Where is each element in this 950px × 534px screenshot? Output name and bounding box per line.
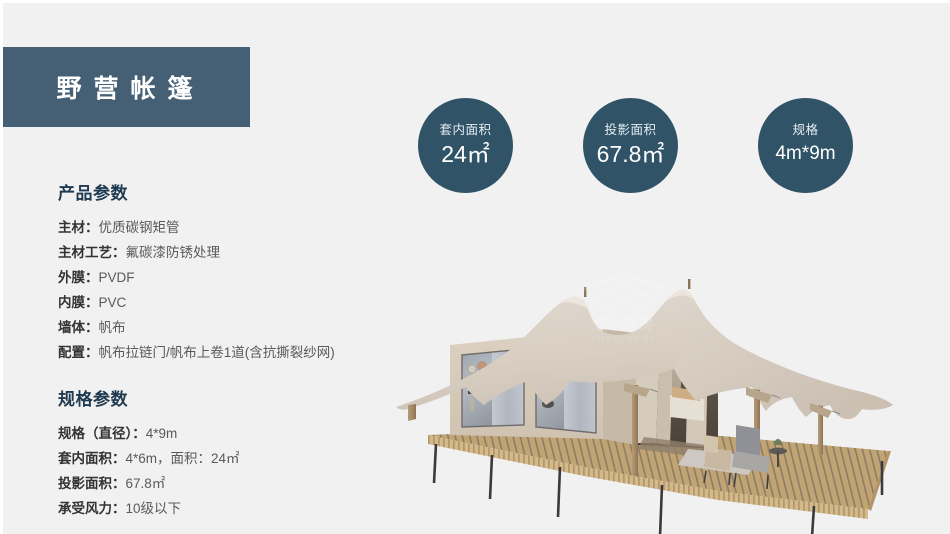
- product-parameters-block: 产品参数 主材：优质碳钢矩管 主材工艺：氟碳漆防锈处理 外膜：PVDF 内膜：P…: [58, 179, 335, 365]
- spec-label: 投影面积：: [58, 476, 126, 491]
- spec-label: 内膜：: [58, 295, 99, 310]
- spec-value: PVC: [99, 295, 127, 310]
- spec-label: 套内面积：: [58, 451, 126, 466]
- badge-value: 24㎡: [441, 140, 490, 168]
- spec-label: 外膜：: [58, 270, 99, 285]
- spec-value: 4*6m，面积：24㎡: [126, 451, 240, 466]
- size-parameters-heading: 规格参数: [58, 385, 240, 410]
- badge-label: 套内面积: [439, 123, 491, 138]
- spec-label: 承受风力：: [58, 501, 126, 516]
- spec-row: 投影面积：67.8㎡: [58, 471, 240, 496]
- tent-render-image: 雪利篷房 XUELI TENT: [388, 199, 950, 534]
- spec-row: 内膜：PVC: [58, 290, 335, 315]
- product-spec-page: 野营帐篷 产品参数 主材：优质碳钢矩管 主材工艺：氟碳漆防锈处理 外膜：PVDF…: [0, 0, 950, 534]
- badge-interior-area: 套内面积 24㎡: [418, 98, 513, 193]
- badge-value: 4m*9m: [775, 140, 835, 168]
- badge-label: 规格: [792, 123, 818, 138]
- spec-value: 帆布拉链门/帆布上卷1道(含抗撕裂纱网): [99, 345, 335, 360]
- spec-label: 主材：: [58, 220, 99, 235]
- spec-row: 套内面积：4*6m，面积：24㎡: [58, 446, 240, 471]
- badge-label: 投影面积: [604, 123, 656, 138]
- spec-label: 规格（直径）：: [58, 426, 146, 441]
- badge-value: 67.8㎡: [597, 140, 665, 168]
- spec-value: 帆布: [99, 320, 126, 335]
- spec-value: 优质碳钢矩管: [99, 220, 180, 235]
- spec-value: 氟碳漆防锈处理: [126, 245, 221, 260]
- page-title: 野营帐篷: [44, 69, 204, 105]
- spec-value: 4*9m: [146, 426, 178, 441]
- size-parameters-block: 规格参数 规格（直径）：4*9m 套内面积：4*6m，面积：24㎡ 投影面积：6…: [58, 385, 240, 521]
- spec-row: 配置：帆布拉链门/帆布上卷1道(含抗撕裂纱网): [58, 340, 335, 365]
- spec-row: 外膜：PVDF: [58, 265, 335, 290]
- canopy-finial: [688, 279, 690, 289]
- spec-value: 10级以下: [126, 501, 182, 516]
- spec-row: 规格（直径）：4*9m: [58, 421, 240, 446]
- badge-dimensions: 规格 4m*9m: [758, 98, 853, 193]
- spec-label: 主材工艺：: [58, 245, 126, 260]
- watermark-text: 雪利篷房: [594, 315, 654, 333]
- spec-value: 67.8㎡: [126, 476, 166, 491]
- spec-value: PVDF: [99, 270, 135, 285]
- watermark-subtext: XUELI TENT: [591, 335, 657, 344]
- spec-row: 主材：优质碳钢矩管: [58, 215, 335, 240]
- page-title-banner: 野营帐篷: [0, 47, 250, 127]
- spec-label: 墙体：: [58, 320, 99, 335]
- badge-projected-area: 投影面积 67.8㎡: [583, 98, 678, 193]
- spec-row: 墙体：帆布: [58, 315, 335, 340]
- spec-row: 主材工艺：氟碳漆防锈处理: [58, 240, 335, 265]
- spec-label: 配置：: [58, 345, 99, 360]
- spec-row: 承受风力：10级以下: [58, 496, 240, 521]
- product-parameters-heading: 产品参数: [58, 179, 335, 204]
